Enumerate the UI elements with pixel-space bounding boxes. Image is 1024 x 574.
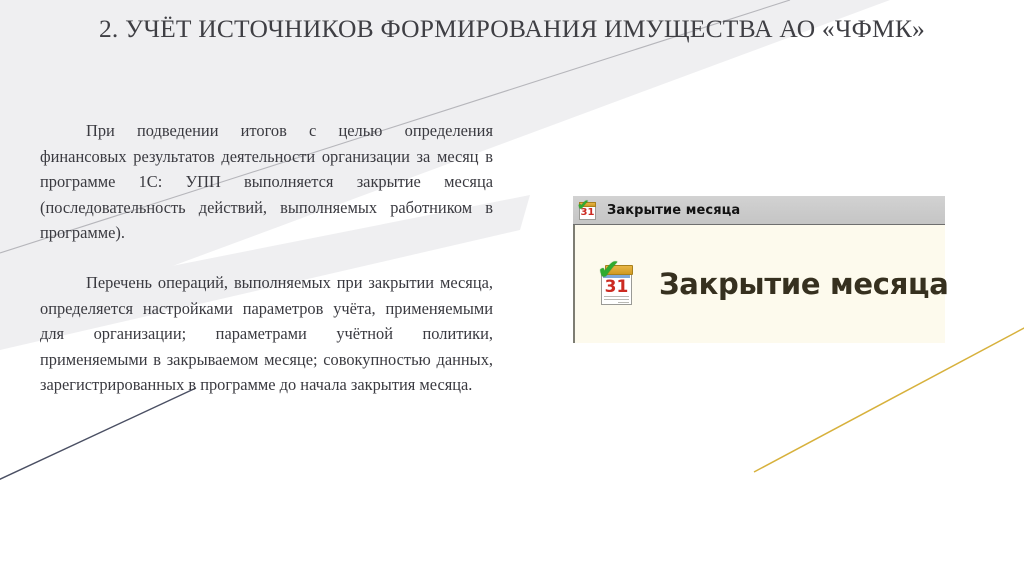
onec-screenshot-window: 31 ✔ Закрытие месяца 31 ✔ Закрытие месяц… — [573, 196, 945, 343]
green-check-icon: ✔ — [597, 256, 620, 284]
window-title-text: Закрытие месяца — [607, 203, 740, 218]
calendar-check-icon: 31 ✔ — [578, 200, 598, 221]
paragraph-1-text: При подведении итогов с целью определени… — [40, 118, 493, 246]
paragraph-2-text: Перечень операций, выполняемых при закры… — [40, 270, 493, 398]
title-bar: 2. УЧЁТ ИСТОЧНИКОВ ФОРМИРОВАНИЯ ИМУЩЕСТВ… — [0, 14, 1024, 44]
page-title: 2. УЧЁТ ИСТОЧНИКОВ ФОРМИРОВАНИЯ ИМУЩЕСТВ… — [99, 14, 925, 44]
window-heading-text: Закрытие месяца — [659, 267, 948, 301]
window-titlebar: 31 ✔ Закрытие месяца — [573, 196, 945, 225]
paragraph-1: При подведении итогов с целью определени… — [40, 118, 493, 246]
calendar-text-line — [618, 302, 629, 303]
gold-diagonal-line — [754, 327, 1024, 472]
calendar-text-line — [604, 299, 629, 300]
slide-canvas: 2. УЧЁТ ИСТОЧНИКОВ ФОРМИРОВАНИЯ ИМУЩЕСТВ… — [0, 0, 1024, 574]
navy-diagonal-line — [0, 388, 196, 482]
window-content-area: 31 ✔ Закрытие месяца — [573, 225, 945, 343]
calendar-check-icon-large: 31 ✔ — [597, 260, 637, 308]
paragraph-2: Перечень операций, выполняемых при закры… — [40, 270, 493, 398]
calendar-text-line — [604, 296, 629, 297]
green-check-icon: ✔ — [577, 198, 590, 213]
body-text-column: При подведении итогов с целью определени… — [40, 118, 493, 398]
